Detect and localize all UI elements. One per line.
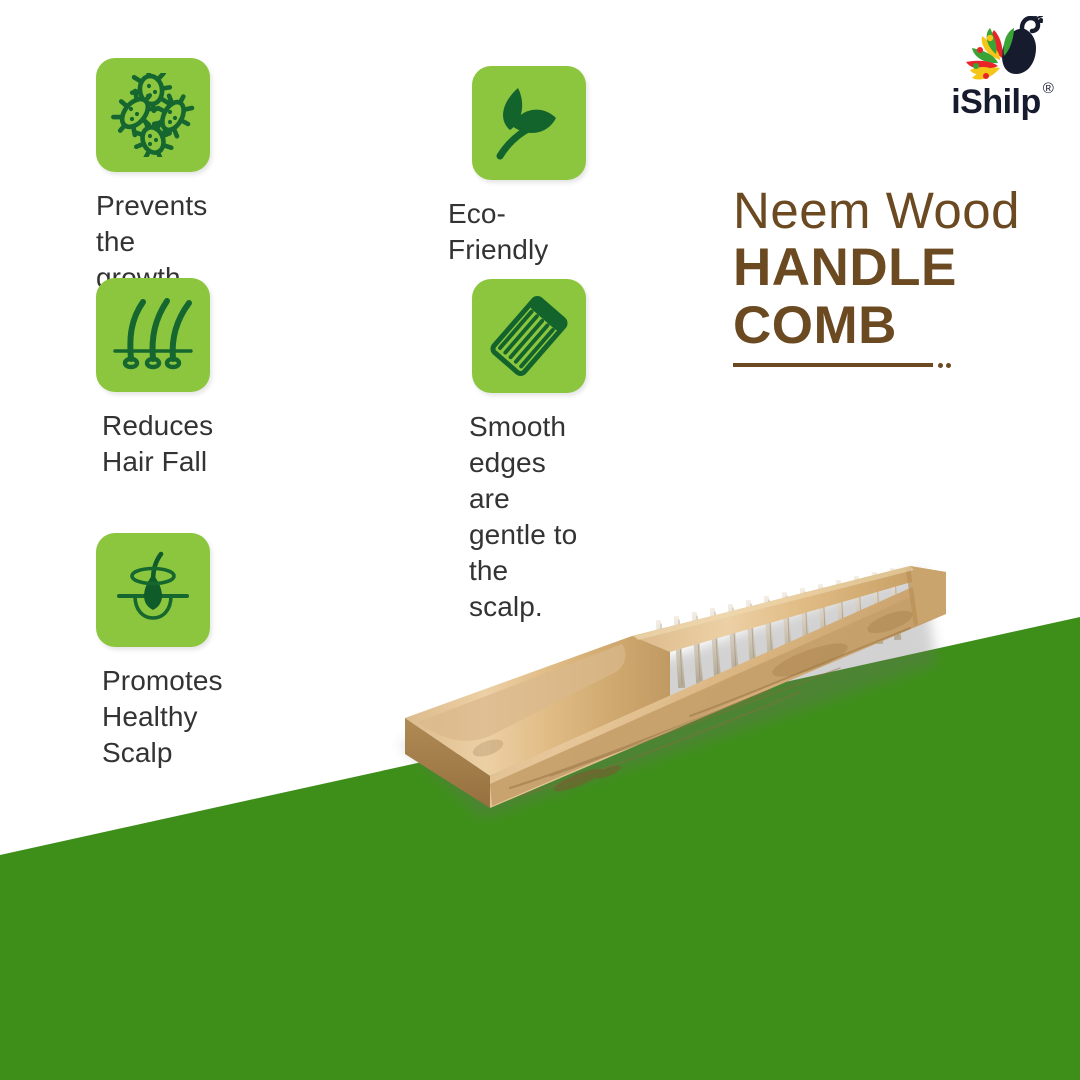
title-underline-dot xyxy=(938,363,943,368)
feature-eco-friendly: Eco-Friendly xyxy=(472,66,586,268)
product-title-line1: Neem Wood xyxy=(733,183,1020,239)
product-infographic: Prevents the growth of fungus xyxy=(0,0,1080,1080)
hair-follicles-icon xyxy=(109,293,197,377)
feature-label: Reduces Hair Fall xyxy=(102,408,213,480)
feature-label: Eco-Friendly xyxy=(448,196,586,268)
feature-reduces-hair-fall: Reduces Hair Fall xyxy=(96,278,213,480)
product-title-line2: HANDLE xyxy=(733,239,1020,297)
title-underline xyxy=(733,359,948,373)
brand-wordmark: iShilp ® xyxy=(951,84,1041,120)
comb-icon xyxy=(486,293,572,379)
hair-root-scalp-icon xyxy=(111,548,195,632)
feature-promotes-healthy-scalp: Promotes Healthy Scalp xyxy=(96,533,223,771)
title-underline-dot xyxy=(946,363,951,368)
brand-logo: iShilp ® xyxy=(938,16,1054,120)
bacteria-germs-icon xyxy=(111,73,195,157)
peacock-logo-icon xyxy=(938,16,1054,86)
registered-trademark-icon: ® xyxy=(1043,80,1054,97)
leaf-icon xyxy=(488,82,570,164)
feature-icon-tile xyxy=(472,279,586,393)
feature-icon-tile xyxy=(96,58,210,172)
feature-label: Promotes Healthy Scalp xyxy=(102,663,223,771)
feature-smooth-edges: Smooth edges are gentle to the scalp. xyxy=(472,279,586,625)
title-underline-bar xyxy=(733,363,933,367)
feature-icon-tile xyxy=(96,278,210,392)
product-title-line3: COMB xyxy=(733,297,1020,355)
feature-icon-tile xyxy=(472,66,586,180)
feature-label: Smooth edges are gentle to the scalp. xyxy=(469,409,586,625)
brand-name: iShilp xyxy=(951,83,1041,121)
feature-icon-tile xyxy=(96,533,210,647)
product-title-block: Neem Wood HANDLE COMB xyxy=(733,183,1020,373)
product-photo xyxy=(370,540,970,850)
